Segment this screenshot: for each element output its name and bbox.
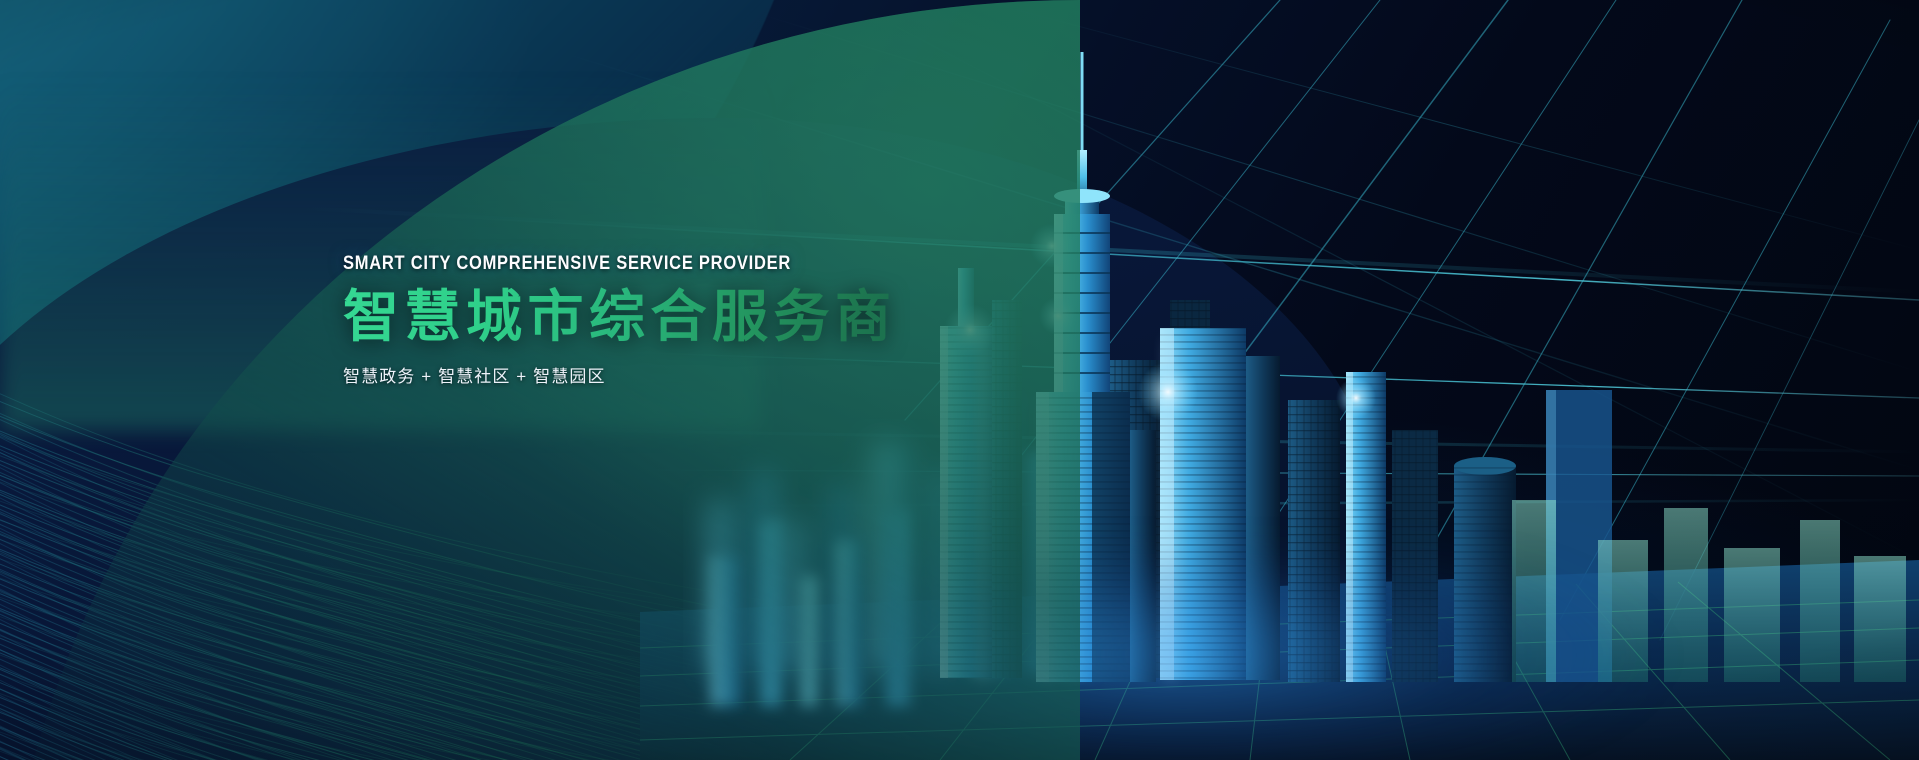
english-kicker: SMART CITY COMPREHENSIVE SERVICE PROVIDE… — [343, 252, 867, 275]
navy-body-shape — [0, 118, 1380, 760]
line-mesh-decoration — [0, 150, 900, 760]
sub-headline: 智慧政务 + 智慧社区 + 智慧园区 — [343, 362, 963, 387]
ground-light-glow — [700, 560, 1800, 760]
smart-city-banner: SMART CITY COMPREHENSIVE SERVICE PROVIDE… — [0, 0, 1919, 760]
headline-block: SMART CITY COMPREHENSIVE SERVICE PROVIDE… — [343, 252, 963, 387]
main-headline: 智慧城市综合服务商 — [343, 286, 963, 349]
